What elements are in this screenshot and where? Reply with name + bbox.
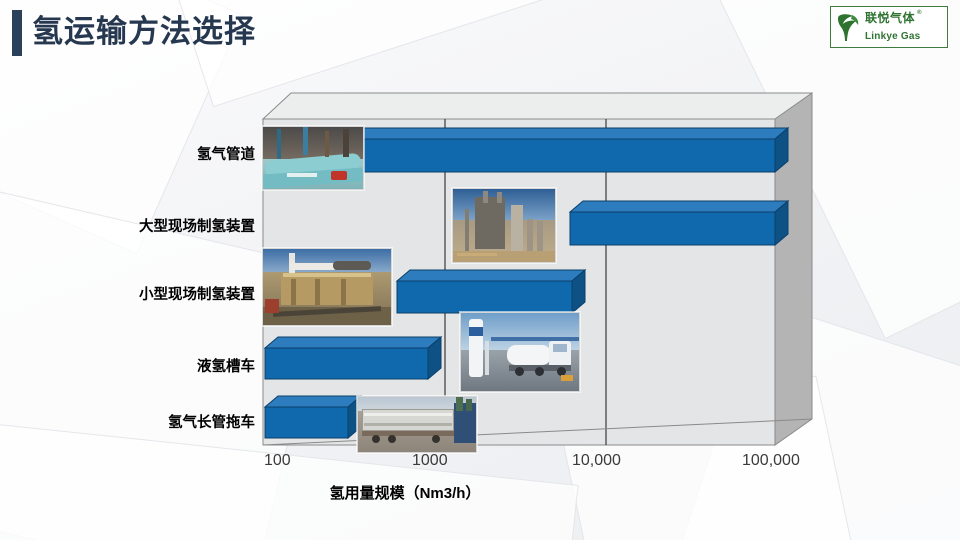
category-label-hydrogen-pipeline: 氢气管道 (197, 143, 255, 164)
x-tick-1000: 1000 (412, 452, 448, 470)
chart-area: 氢气管道 大型现场制氢装置 小型现场制氢装置 液氢槽车 氢气长管拖车 100 1… (0, 0, 960, 540)
x-tick-100: 100 (264, 452, 291, 470)
category-label-small-onsite-plant: 小型现场制氢装置 (139, 283, 255, 304)
hydrogen-tube-trailer-photo (357, 396, 477, 453)
category-label-large-onsite-plant: 大型现场制氢装置 (139, 215, 255, 236)
bar-hydrogen-pipeline (348, 128, 788, 172)
liquid-hydrogen-tanker-photo (460, 312, 580, 392)
bar-tube-trailer (265, 396, 361, 438)
x-tick-100000: 100,000 (742, 452, 800, 470)
x-axis-title-text: 氢用量规模（Nm3/h） (330, 482, 481, 503)
category-label-tube-trailer: 氢气长管拖车 (168, 411, 255, 432)
large-onsite-hydrogen-plant-photo (452, 188, 556, 263)
small-onsite-hydrogen-plant-photo (262, 248, 392, 326)
category-label-liquid-hydrogen-tanker: 液氢槽车 (197, 355, 255, 376)
x-tick-10000: 10,000 (572, 452, 621, 470)
bar-liquid-hydrogen-tanker (265, 337, 441, 379)
chart-bars (0, 0, 960, 540)
bar-large-onsite-plant (570, 201, 788, 245)
x-axis-title: 氢用量规模（Nm3/h） (0, 482, 960, 503)
bar-small-onsite-plant (397, 270, 585, 313)
hydrogen-pipeline-photo (262, 126, 364, 190)
